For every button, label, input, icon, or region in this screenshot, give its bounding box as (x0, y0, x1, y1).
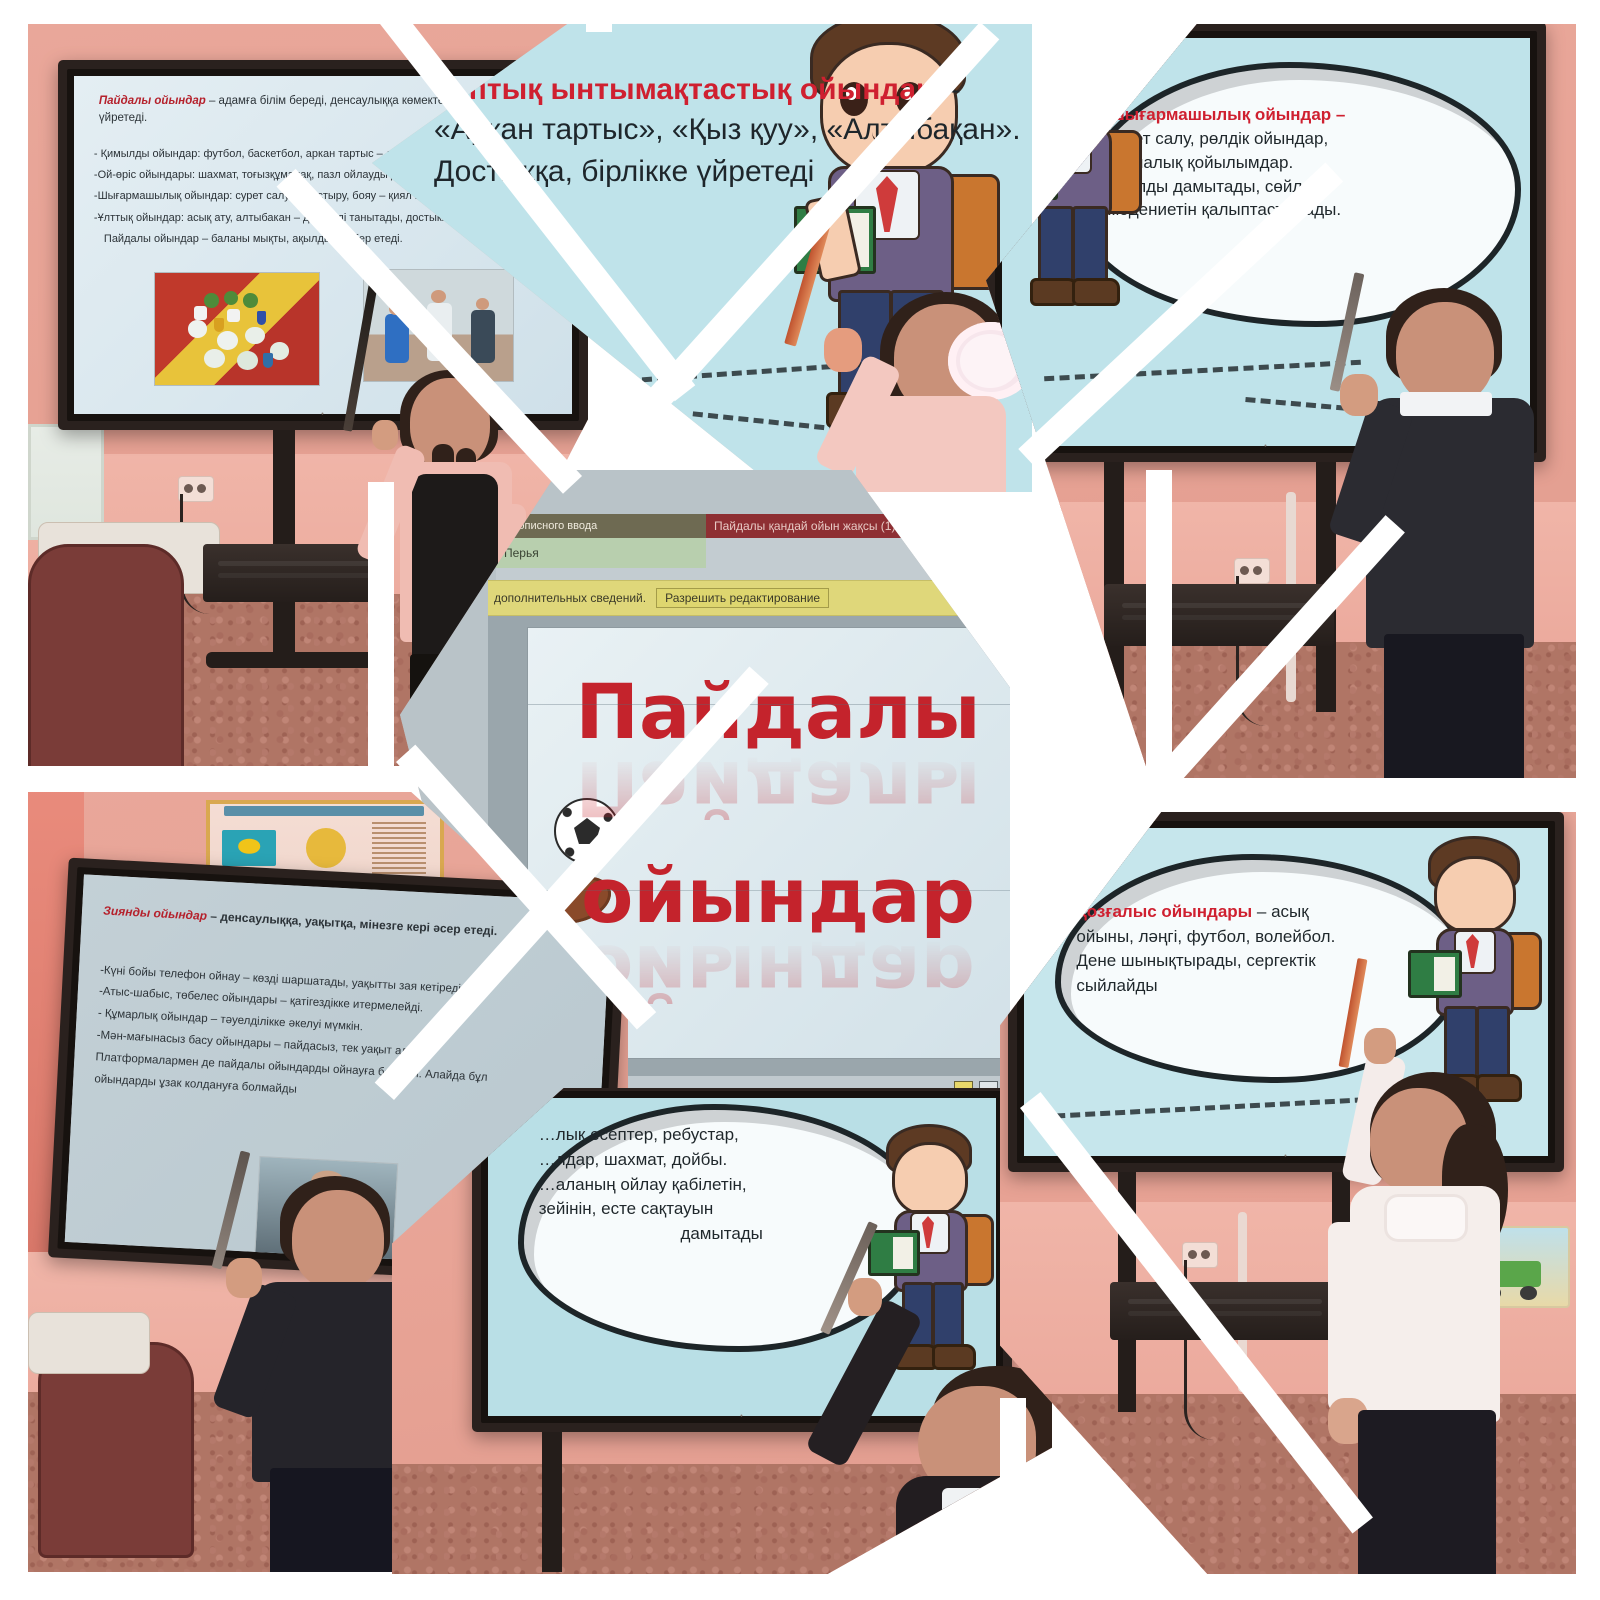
seam-bottom-center-right (1000, 1398, 1026, 1598)
slide-title-line1: Пайдалы (575, 667, 980, 756)
slide-title-red: Топтық ынтымақтастық ойындар (434, 73, 934, 106)
kazakhstan-emblem-icon (306, 828, 346, 868)
kazakhstan-flag-icon (222, 830, 276, 866)
seam-vertical-left (586, 22, 612, 32)
seam-vertical-mid-right (1146, 470, 1172, 800)
slide-line: зейінін, есте сақтауын (539, 1197, 905, 1222)
slide-title-reflection: Пайдалы (528, 750, 1010, 826)
board-brand-label: • (740, 1413, 743, 1420)
slide-title-line2: ойындар (581, 851, 975, 940)
slide-line: сахналық қойылымдар. (1108, 151, 1488, 175)
panel-bottom-center: …лық есептер, ребустар, …лдар, шахмат, д… (392, 1088, 1052, 1574)
protected-view-message: дополнительных сведений. (494, 591, 646, 605)
collage-border-bottom (0, 1574, 1600, 1600)
slide-line: …аланың ойлау қабілетін, (539, 1173, 905, 1198)
enable-editing-button[interactable]: Разрешить редактирование (656, 588, 829, 608)
classroom-table (28, 1312, 150, 1374)
slide-heading: Пайдалы ойындар (99, 95, 206, 107)
slide-line: сурет салу, рөлдік ойындар, (1108, 127, 1488, 151)
photo-collage: Пайдалы ойындар – адамға білім береді, д… (0, 0, 1600, 1600)
student-girl-blouse (1266, 1062, 1546, 1574)
student-boy-uniform (1338, 262, 1568, 782)
pointer-stick (212, 1151, 251, 1270)
book-icon (868, 1230, 920, 1276)
slide-line: …лық есептер, ребустар, (539, 1123, 905, 1148)
board-brand-label: • (321, 411, 324, 418)
protected-view-bar: дополнительных сведений. Разрешить редак… (488, 580, 1010, 616)
slide-line: сыйлайды (1076, 974, 1443, 999)
slide-line: …лдар, шахмат, дойбы. (539, 1148, 905, 1173)
book-icon (1408, 950, 1462, 998)
window-title-bar: Пайдалы қандай ойын жақсы (1) [Защищенны… (706, 514, 1010, 538)
slide-heading-rest: – денсаулыққа, уақытқа, мінезге кері әсе… (210, 909, 498, 938)
collage-border-left (0, 0, 28, 1600)
board-game-image (154, 272, 320, 386)
board-brand-label: • (1264, 443, 1267, 450)
classroom-chair (28, 544, 184, 780)
seam-vertical-mid-left (368, 482, 394, 772)
slide-title-rest: – асық (1257, 902, 1309, 921)
slide-line: Дене шынықтырады, сергектік (1076, 949, 1443, 974)
pens-button[interactable]: Перья (496, 538, 714, 568)
slide-heading: Зиянды ойындар (103, 903, 208, 922)
classroom-chair (38, 1342, 194, 1558)
ribbon-tab-ink[interactable]: рукописного ввода (496, 514, 712, 538)
collage-border-top (0, 0, 1600, 24)
seam-horizontal-left (28, 766, 418, 792)
slide-line: ойыны, ләңгі, футбол, волейбол. (1076, 925, 1443, 950)
slide-title-red: Қозғалыс ойындары (1076, 902, 1252, 921)
seam-horizontal-right (1150, 778, 1580, 804)
slide-line: дамытады (539, 1222, 905, 1247)
